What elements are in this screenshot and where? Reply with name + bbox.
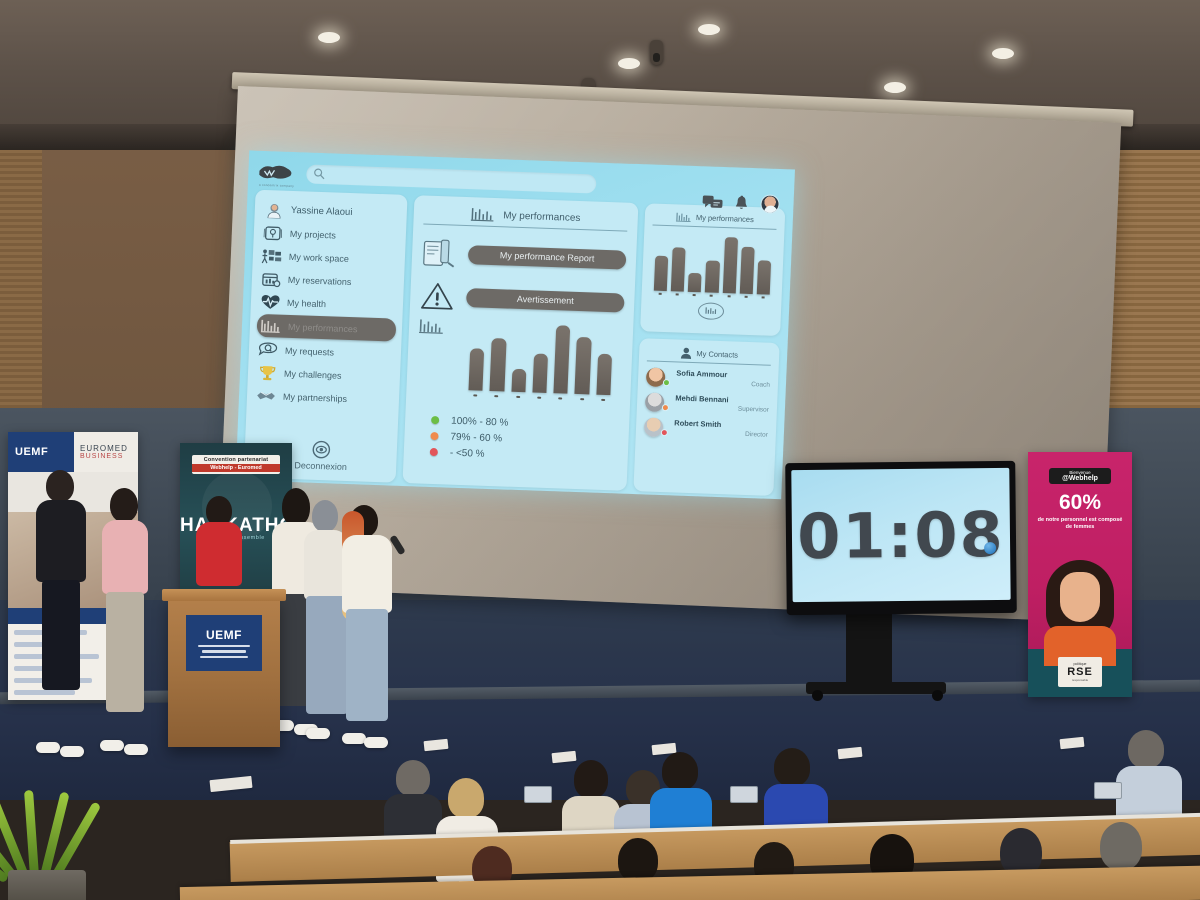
messages-icon[interactable] bbox=[702, 195, 723, 210]
chart-axis-tick bbox=[601, 398, 605, 401]
main-chart-axis bbox=[468, 394, 610, 401]
ceiling-light-1 bbox=[318, 32, 340, 43]
tv-wheel-left bbox=[812, 690, 823, 701]
shoe bbox=[60, 746, 84, 757]
workspace-icon bbox=[262, 247, 283, 265]
search-input[interactable] bbox=[306, 164, 597, 193]
shoe bbox=[124, 744, 148, 755]
bar-chart-icon bbox=[676, 211, 692, 223]
search-icon bbox=[313, 168, 325, 180]
report-row: My performance Report bbox=[422, 238, 627, 275]
chart-bar bbox=[739, 247, 754, 294]
notifications-bell-icon[interactable] bbox=[734, 195, 749, 210]
torso bbox=[196, 522, 242, 586]
chart-bar bbox=[654, 256, 669, 291]
user-avatar[interactable] bbox=[760, 194, 780, 214]
chart-button-icon bbox=[704, 306, 717, 315]
ceiling-light-3 bbox=[618, 58, 640, 69]
webhelp-welcome: @Webhelp bbox=[1049, 475, 1111, 482]
head bbox=[110, 488, 138, 522]
report-icon bbox=[422, 238, 457, 269]
report-button-label: My performance Report bbox=[500, 250, 595, 263]
webhelp-rse-logo: politique RSE responsable bbox=[1058, 657, 1102, 687]
warning-row: Avertissement bbox=[420, 281, 625, 318]
chart-bar bbox=[705, 260, 719, 293]
audience-laptop bbox=[1094, 782, 1122, 799]
chart-bar bbox=[511, 369, 526, 393]
chart-axis-tick bbox=[659, 293, 662, 295]
sidebar-item-my-partnerships[interactable]: My partnerships bbox=[254, 384, 394, 412]
tv-base bbox=[806, 682, 946, 694]
contact-row[interactable]: Robert Smith Director bbox=[644, 417, 769, 440]
bar-chart-icon bbox=[261, 317, 282, 335]
dashboard-columns: Yassine Alaoui My p bbox=[244, 190, 786, 496]
countdown-timer: 01:08 bbox=[797, 497, 1005, 572]
contact-status-dot bbox=[662, 403, 669, 410]
chart-axis-tick bbox=[761, 296, 764, 298]
sidebar-label: My partnerships bbox=[283, 391, 347, 403]
legs bbox=[106, 592, 144, 712]
hackathon-tag-line1: Convention partenariat bbox=[192, 457, 280, 463]
my-performance-report-button[interactable]: My performance Report bbox=[468, 245, 627, 269]
ceiling-light-2 bbox=[698, 24, 720, 35]
main-performance-panel: My performances My performance Report bbox=[403, 195, 639, 491]
podium-top bbox=[162, 589, 286, 601]
person-avatar-icon bbox=[263, 201, 284, 219]
rse-sub: responsable bbox=[1072, 678, 1088, 682]
ceiling-light-4 bbox=[992, 48, 1014, 59]
bar-chart-icon bbox=[471, 206, 496, 223]
calendar-icon bbox=[261, 270, 282, 288]
performance-legend: 100% - 80 % 79% - 60 % - <50 % bbox=[414, 411, 620, 466]
legend-label: 100% - 80 % bbox=[451, 415, 509, 428]
webhelp-stat-text: de notre personnel est composé de femmes bbox=[1028, 517, 1132, 532]
sidebar-label: My health bbox=[287, 297, 326, 308]
contact-row[interactable]: Sofia Ammour Coach bbox=[646, 367, 771, 390]
chart-axis-tick bbox=[727, 295, 730, 297]
chart-bar bbox=[596, 354, 612, 395]
ceiling-light-5 bbox=[884, 82, 906, 93]
ceiling-camera-1 bbox=[650, 40, 663, 65]
chart-axis-tick bbox=[558, 397, 562, 400]
chart-bar bbox=[688, 273, 702, 292]
sidebar-label: My performances bbox=[288, 321, 358, 333]
warning-triangle-icon bbox=[420, 281, 455, 312]
webhelp-welcome-tag: Bienvenue @Webhelp bbox=[1049, 468, 1111, 484]
chart-detail-button[interactable] bbox=[698, 302, 725, 320]
chat-question-icon bbox=[258, 341, 279, 359]
chart-bar bbox=[554, 325, 571, 393]
euromed-block: EUROMED BUSINESS bbox=[74, 432, 138, 472]
shoe bbox=[36, 742, 60, 753]
auditorium-scene: a concentrix company bbox=[0, 0, 1200, 900]
avertissement-button[interactable]: Avertissement bbox=[466, 288, 625, 312]
sidebar-label: My projects bbox=[290, 228, 336, 240]
contact-status-dot bbox=[661, 428, 668, 435]
tv-wheel-right bbox=[932, 690, 943, 701]
projects-icon bbox=[263, 224, 284, 242]
bar-chart-icon bbox=[419, 317, 446, 336]
chart-axis-tick bbox=[693, 294, 696, 296]
sidebar-label: My reservations bbox=[288, 274, 352, 286]
legend-dot-green bbox=[431, 416, 439, 424]
mini-panel-title: My performances bbox=[696, 213, 754, 224]
audience-laptop bbox=[524, 786, 552, 803]
podium-sign: UEMF bbox=[186, 615, 262, 671]
chart-bar bbox=[575, 337, 592, 395]
podium: UEMF bbox=[168, 597, 280, 747]
legs bbox=[42, 580, 80, 690]
head bbox=[312, 500, 338, 532]
shoe bbox=[100, 740, 124, 751]
chart-axis-tick bbox=[516, 395, 520, 398]
countdown-tv: 01:08 bbox=[785, 461, 1017, 615]
tv-stand bbox=[846, 612, 892, 686]
logo-subtitle: a concentrix company bbox=[259, 183, 294, 188]
shoe bbox=[306, 728, 330, 739]
right-column: My performances bbox=[633, 203, 785, 496]
chart-axis-tick bbox=[473, 394, 477, 397]
handshake-icon bbox=[256, 387, 277, 405]
warning-button-label: Avertissement bbox=[517, 294, 574, 306]
torso bbox=[36, 500, 86, 582]
legend-label: - <50 % bbox=[450, 447, 485, 459]
trophy-icon bbox=[257, 364, 278, 382]
chart-bar bbox=[532, 353, 548, 393]
sidebar-label: My challenges bbox=[284, 368, 342, 380]
main-panel-header: My performances bbox=[423, 205, 628, 232]
legs bbox=[346, 609, 388, 721]
main-panel-title: My performances bbox=[503, 210, 581, 224]
main-chart-bars bbox=[468, 320, 613, 395]
chart-axis-tick bbox=[710, 295, 713, 297]
webhelp-logo: a concentrix company bbox=[256, 162, 297, 183]
head bbox=[282, 488, 310, 526]
power-icon bbox=[311, 440, 331, 460]
webhelp-stat: 60% bbox=[1028, 491, 1132, 515]
legend-label: 79% - 60 % bbox=[450, 431, 502, 444]
topbar-icons bbox=[702, 192, 780, 214]
contacts-header: My Contacts bbox=[647, 345, 772, 365]
contact-status-dot bbox=[663, 379, 670, 386]
uemf-banner-title: UEMF bbox=[15, 446, 48, 458]
webhelp-banner-photo bbox=[1042, 560, 1118, 660]
projected-dashboard: a concentrix company bbox=[235, 150, 794, 499]
legend-dot-orange bbox=[430, 432, 438, 440]
podium-label: UEMF bbox=[206, 628, 242, 642]
sidebar-item-my-performances[interactable]: My performances bbox=[257, 314, 397, 342]
legend-dot-red bbox=[430, 448, 438, 456]
shoe bbox=[364, 737, 388, 748]
sidebar: Yassine Alaoui My p bbox=[244, 190, 408, 483]
sidebar-item-my-health[interactable]: My health bbox=[258, 290, 398, 318]
mini-performance-panel: My performances bbox=[640, 203, 785, 336]
sidebar-label: My requests bbox=[285, 345, 334, 357]
timer-screen: 01:08 bbox=[791, 468, 1010, 602]
contacts-panel: My Contacts Sofia Ammour Coach bbox=[633, 338, 779, 496]
torso bbox=[342, 535, 392, 613]
head bbox=[46, 470, 74, 502]
torso bbox=[102, 520, 148, 594]
sidebar-label: My work space bbox=[289, 251, 349, 263]
euromed-business-label: BUSINESS bbox=[80, 453, 138, 460]
chart-axis-tick bbox=[495, 395, 499, 398]
sidebar-user-label: Yassine Alaoui bbox=[291, 205, 353, 218]
logout-label: Deconnexion bbox=[294, 460, 347, 472]
heartbeat-icon bbox=[260, 293, 281, 311]
person-icon bbox=[680, 347, 692, 359]
mini-panel-header: My performances bbox=[653, 211, 778, 230]
timer-logo-dot bbox=[984, 542, 996, 554]
euromed-label: EUROMED bbox=[80, 444, 138, 453]
potted-plant bbox=[0, 770, 110, 900]
mini-chart-bars bbox=[650, 233, 776, 295]
chart-axis-tick bbox=[676, 293, 679, 295]
chart-axis-tick bbox=[744, 296, 747, 298]
contacts-title: My Contacts bbox=[696, 349, 738, 359]
chart-axis-tick bbox=[537, 396, 541, 399]
chart-bar bbox=[722, 237, 737, 293]
chart-axis-tick bbox=[580, 398, 584, 401]
chart-bar bbox=[490, 338, 506, 391]
main-performance-chart bbox=[416, 321, 623, 402]
contact-row[interactable]: Mehdi Bennani Supervisor bbox=[645, 392, 770, 415]
chart-bar bbox=[468, 348, 484, 391]
banner-webhelp: Bienvenue @Webhelp 60% de notre personne… bbox=[1028, 452, 1132, 697]
plant-pot bbox=[8, 870, 86, 900]
shoe bbox=[342, 733, 366, 744]
chart-bar bbox=[757, 261, 772, 295]
audience-laptop bbox=[730, 786, 758, 803]
chart-bar bbox=[671, 248, 686, 292]
rse-label: RSE bbox=[1067, 666, 1093, 678]
